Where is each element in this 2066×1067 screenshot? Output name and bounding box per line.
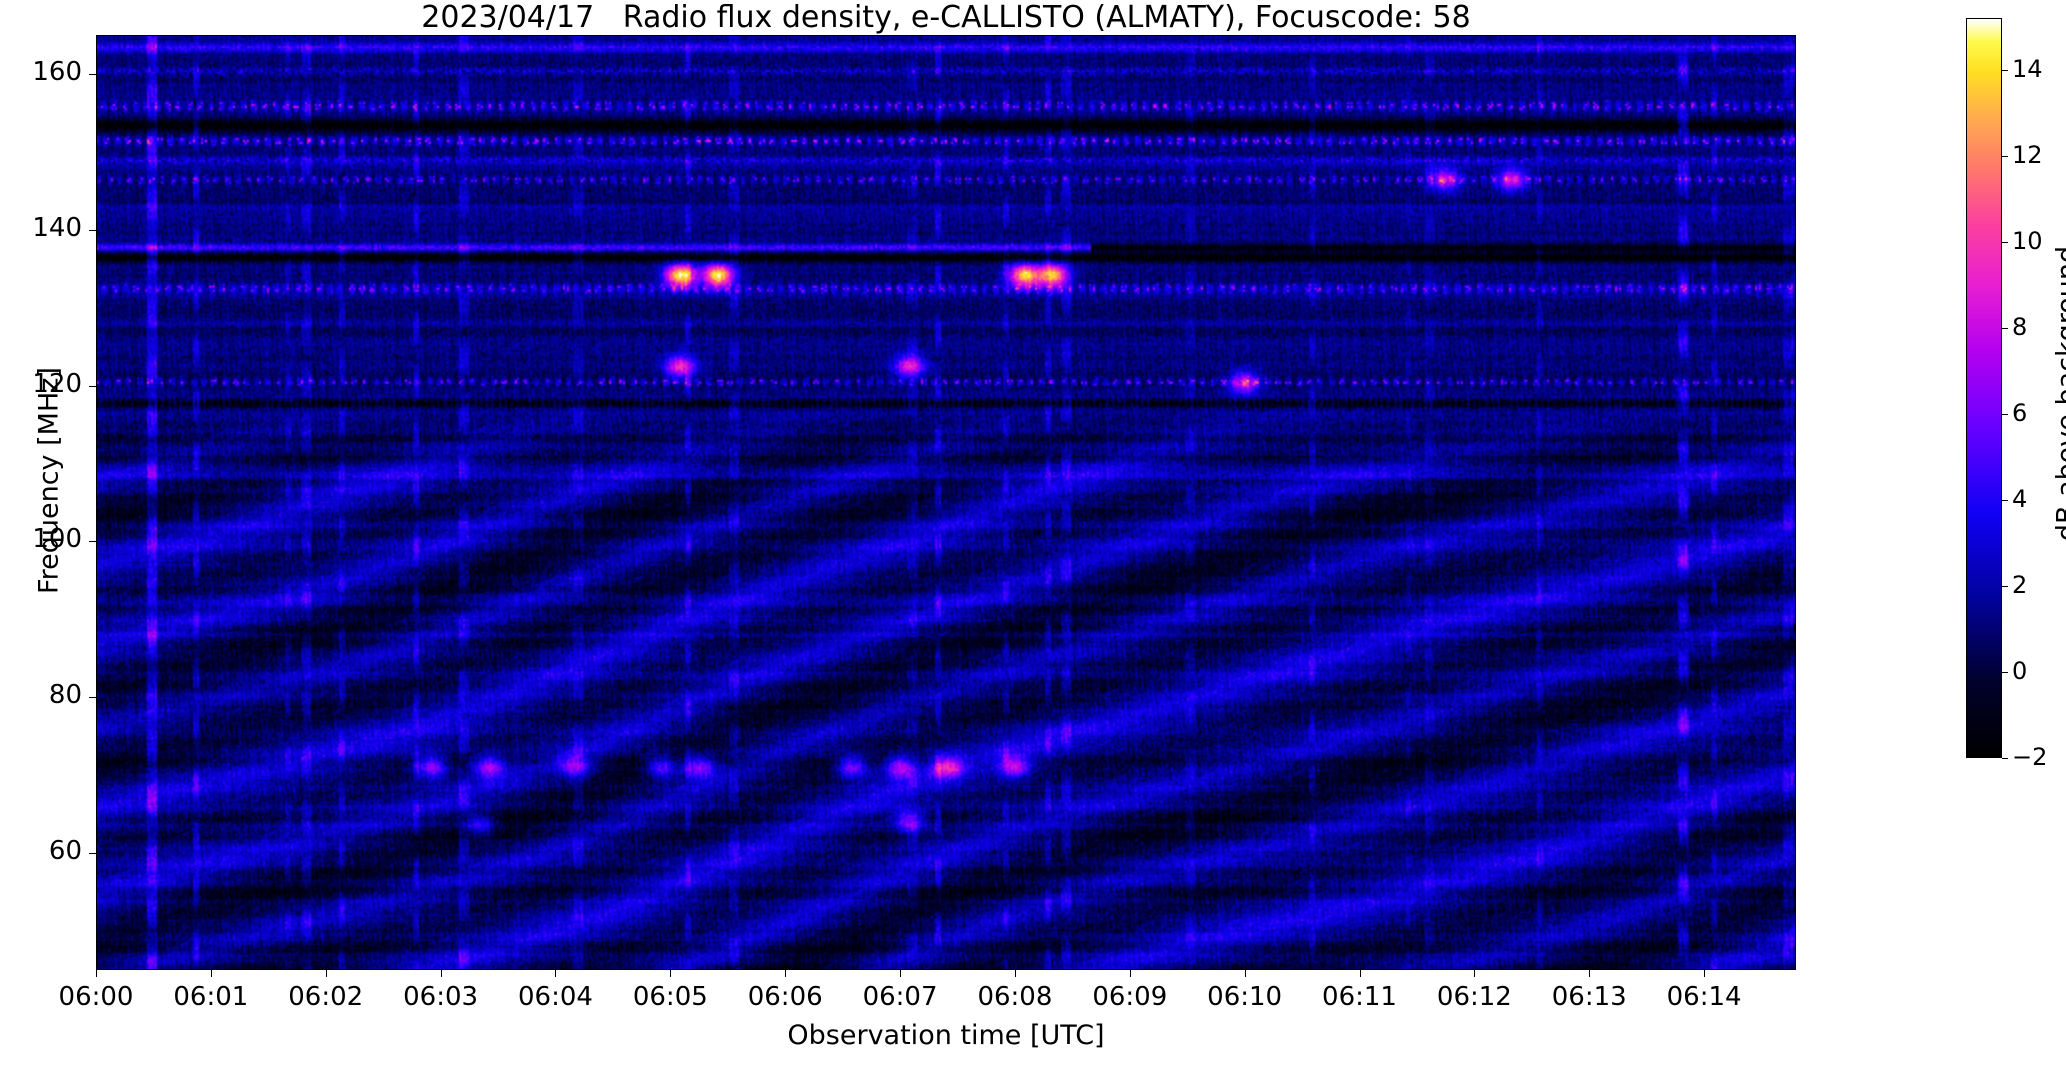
x-tick-mark	[785, 970, 786, 977]
colorbar-tick-label: 0	[2012, 659, 2027, 683]
colorbar-tick-mark	[2002, 242, 2008, 243]
colorbar-tick-mark	[2002, 414, 2008, 415]
colorbar-tick-mark	[2002, 500, 2008, 501]
x-tick-mark	[1589, 970, 1590, 977]
colorbar-gradient	[1967, 19, 2001, 757]
spectrogram-image	[97, 36, 1795, 969]
x-tick-mark	[555, 970, 556, 977]
y-tick-mark	[89, 386, 96, 387]
colorbar-tick-mark	[2002, 586, 2008, 587]
colorbar-tick-mark	[2002, 70, 2008, 71]
y-tick-label-120: 120	[32, 371, 82, 397]
y-tick-mark	[89, 74, 96, 75]
colorbar-tick-label: 2	[2012, 573, 2027, 597]
colorbar-tick-mark	[2002, 328, 2008, 329]
y-tick-label-80: 80	[49, 682, 82, 708]
colorbar-tick-label: −2	[2012, 745, 2047, 769]
y-tick-label-140: 140	[32, 215, 82, 241]
x-tick-mark	[211, 970, 212, 977]
x-tick-mark	[441, 970, 442, 977]
colorbar	[1966, 18, 2002, 758]
y-tick-mark	[89, 230, 96, 231]
colorbar-label: dB above background	[2052, 94, 2066, 694]
colorbar-tick-mark	[2002, 672, 2008, 673]
y-tick-label-60: 60	[49, 838, 82, 864]
x-tick-mark	[1245, 970, 1246, 977]
x-axis-label: Observation time [UTC]	[96, 1020, 1796, 1051]
spectrogram-plot-area	[96, 35, 1796, 970]
x-tick-mark	[1360, 970, 1361, 977]
y-tick-label-160: 160	[32, 59, 82, 85]
colorbar-tick-label: 8	[2012, 315, 2027, 339]
x-tick-mark	[1474, 970, 1475, 977]
x-tick-mark	[96, 970, 97, 977]
colorbar-tick-label: 14	[2012, 57, 2043, 81]
colorbar-tick-mark	[2002, 758, 2008, 759]
x-tick-mark	[1704, 970, 1705, 977]
spectrogram-figure: 2023/04/17 Radio flux density, e-CALLIST…	[0, 0, 2066, 1067]
y-tick-mark	[89, 697, 96, 698]
y-tick-mark	[89, 541, 96, 542]
x-tick-mark	[670, 970, 671, 977]
colorbar-tick-mark	[2002, 156, 2008, 157]
x-tick-mark	[1015, 970, 1016, 977]
x-tick-mark	[1130, 970, 1131, 977]
page-title: 2023/04/17 Radio flux density, e-CALLIST…	[96, 2, 1796, 34]
colorbar-tick-label: 6	[2012, 401, 2027, 425]
x-tick-mark	[326, 970, 327, 977]
y-tick-mark	[89, 853, 96, 854]
colorbar-tick-label: 12	[2012, 143, 2043, 167]
colorbar-tick-label: 4	[2012, 487, 2027, 511]
x-tick-mark	[900, 970, 901, 977]
x-tick-label-06-14: 06:14	[1634, 982, 1774, 1012]
colorbar-tick-label: 10	[2012, 229, 2043, 253]
y-tick-label-100: 100	[32, 526, 82, 552]
